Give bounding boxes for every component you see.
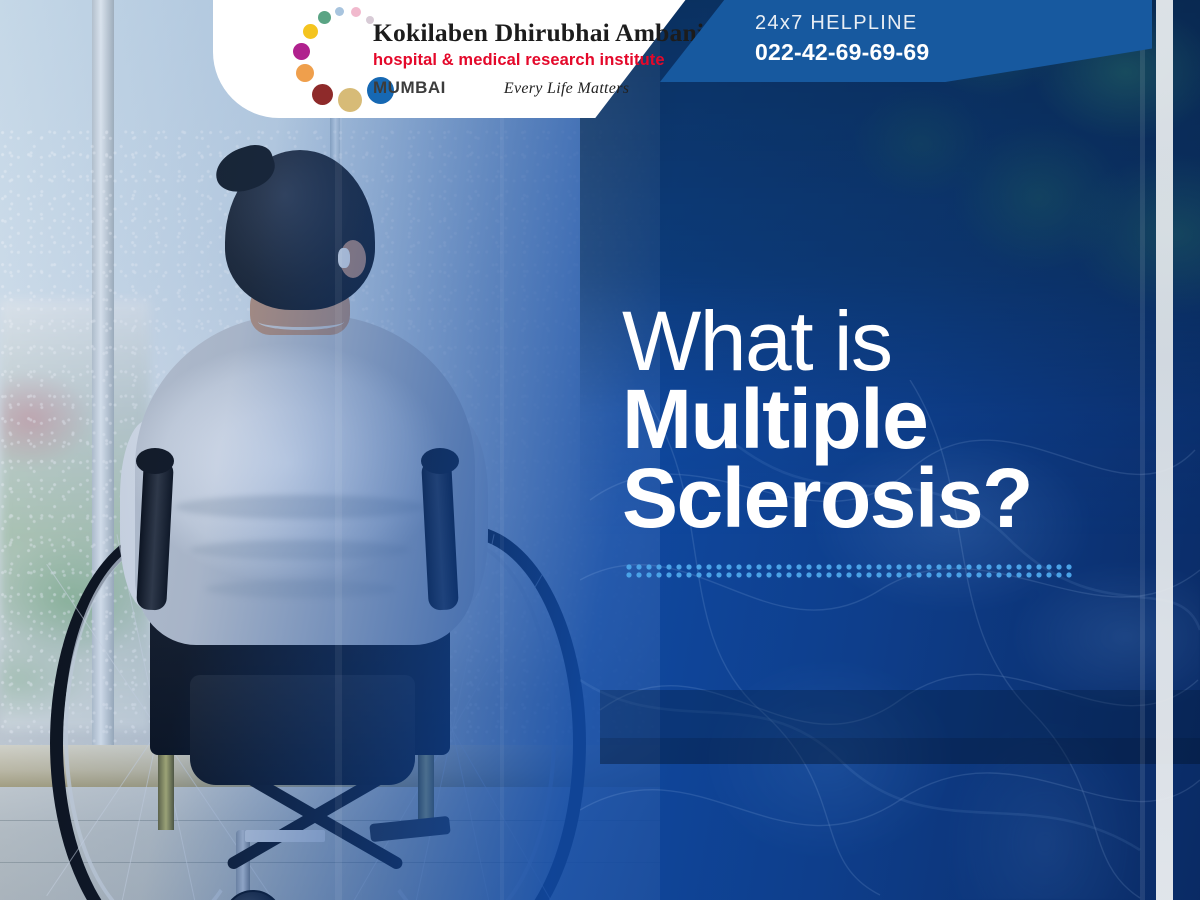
helpline-number[interactable]: 022-42-69-69-69 — [755, 39, 1085, 66]
logo-block: Kokilaben Dhirubhai Ambani hospital & me… — [213, 0, 673, 118]
headline-line-3: Sclerosis? — [622, 457, 1142, 539]
poster-canvas: Kokilaben Dhirubhai Ambani hospital & me… — [0, 0, 1200, 900]
logo-city: MUMBAI — [373, 78, 446, 98]
dotted-divider — [624, 563, 1074, 579]
page-title: What is Multiple Sclerosis? — [622, 300, 1142, 539]
helpline-block: 24x7 HELPLINE 022-42-69-69-69 — [755, 12, 1085, 66]
logo-tagline: Every Life Matters — [504, 80, 629, 98]
arc-decoration — [0, 0, 630, 900]
helpline-label: 24x7 HELPLINE — [755, 12, 1085, 35]
headline-line-2: Multiple — [622, 378, 1142, 460]
right-edge-strip — [1156, 0, 1173, 900]
headline-line-1: What is — [622, 300, 1142, 382]
